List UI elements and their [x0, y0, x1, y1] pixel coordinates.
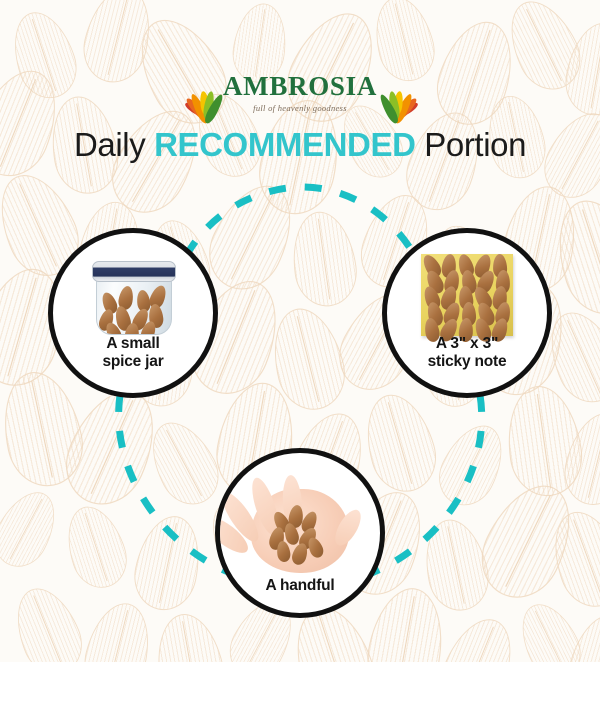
portion-bubble-sticky-note: A 3" x 3" sticky note: [382, 228, 552, 398]
title-accent-word: RECOMMENDED: [154, 126, 415, 163]
arc-top: [186, 187, 415, 256]
jar-of-almonds-photo: [53, 241, 213, 349]
handful-of-almonds-photo: [220, 465, 380, 577]
poster-canvas: AMBROSIA full of heavenly goodness Daily…: [0, 0, 600, 720]
title-part-one: Daily: [74, 126, 154, 163]
label-line-1: A 3" x 3": [393, 335, 541, 353]
bubble-label-spice-jar: A small spice jar: [59, 335, 207, 371]
leaf-fan-right-icon: [372, 69, 418, 117]
portion-bubble-spice-jar: A small spice jar: [48, 228, 218, 398]
jar-body: [96, 275, 172, 335]
label-line-2: spice jar: [59, 353, 207, 371]
brand-logo: AMBROSIA full of heavenly goodness: [0, 62, 600, 124]
almond-cluster: [421, 252, 513, 338]
label-line-2: sticky note: [393, 353, 541, 371]
brand-wordmark: AMBROSIA: [223, 73, 377, 100]
portion-bubble-handful: A handful: [215, 448, 385, 618]
bubble-label-sticky-note: A 3" x 3" sticky note: [393, 335, 541, 371]
sticky-note-icon: [421, 252, 513, 338]
open-palm-icon: [225, 465, 375, 577]
jar-lid: [92, 261, 176, 282]
bubble-label-handful: A handful: [226, 577, 374, 595]
label-line-1: A handful: [226, 577, 374, 595]
page-title: Daily RECOMMENDED Portion: [0, 126, 600, 164]
title-part-two: Portion: [416, 126, 527, 163]
leaf-fan-left-icon: [182, 69, 228, 117]
glass-jar-icon: [90, 253, 176, 337]
brand-tagline: full of heavenly goodness: [253, 104, 347, 113]
label-line-1: A small: [59, 335, 207, 353]
almonds-on-sticky-note-photo: [387, 241, 547, 349]
